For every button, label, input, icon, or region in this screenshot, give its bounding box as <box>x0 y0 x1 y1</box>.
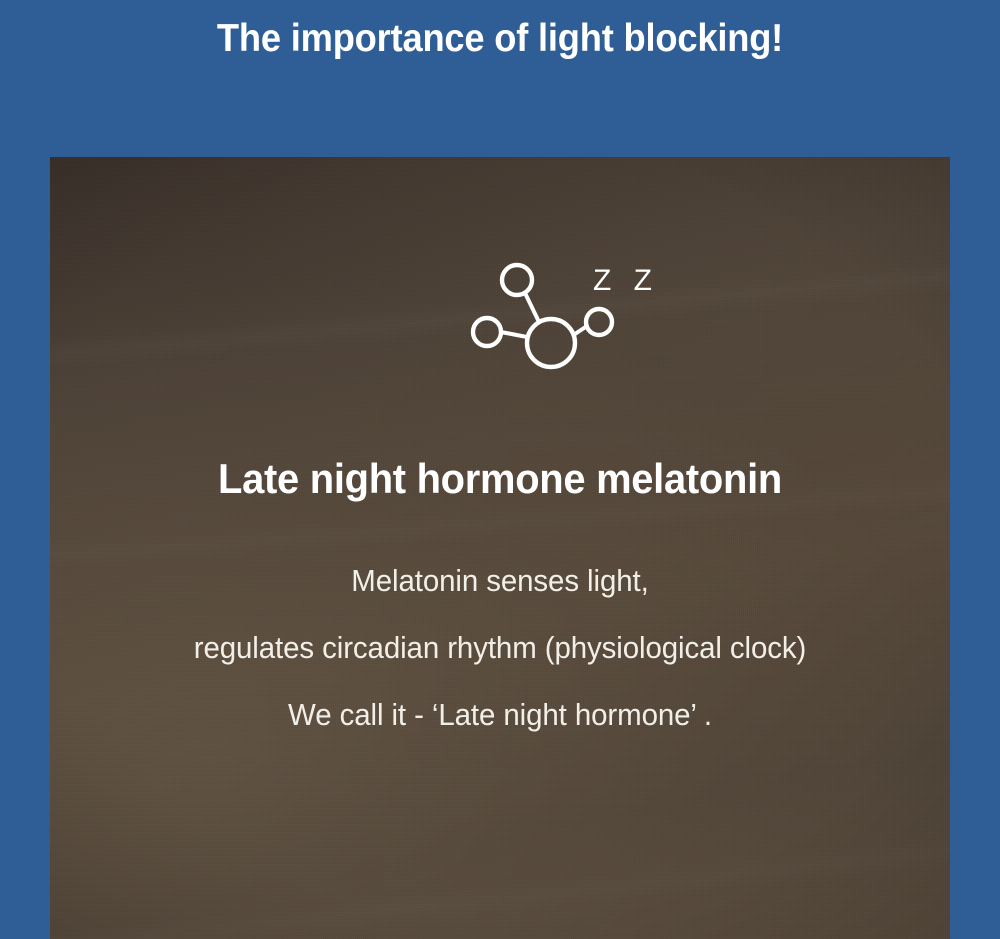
melatonin-info-card: Z Z Z Late night hormone melatonin Melat… <box>50 157 950 939</box>
card-headline: Late night hormone melatonin <box>73 450 928 508</box>
slide-canvas: The importance of light blocking! <box>0 0 1000 939</box>
left-atom <box>473 318 501 346</box>
upper-left-atom <box>502 265 532 295</box>
page-title: The importance of light blocking! <box>35 11 965 67</box>
right-atom <box>586 309 612 335</box>
bond-core-left <box>501 332 527 337</box>
title-banner: The importance of light blocking! <box>0 0 1000 157</box>
core-atom <box>527 319 575 367</box>
body-line-2: regulates circadian rhythm (physiologica… <box>73 614 928 681</box>
body-line-1: Melatonin senses light, <box>73 547 928 614</box>
sleep-zzz-text: Z Z Z <box>593 264 675 297</box>
icon-container: Z Z Z <box>50 252 950 387</box>
card-body-copy: Melatonin senses light, regulates circad… <box>50 547 950 748</box>
melatonin-molecule-sleep-icon: Z Z Z <box>415 252 675 387</box>
bond-core-upperleft <box>525 293 539 322</box>
body-line-3: We call it - ‘Late night hormone’ . <box>73 681 928 748</box>
card-content: Z Z Z Late night hormone melatonin Melat… <box>50 157 950 939</box>
